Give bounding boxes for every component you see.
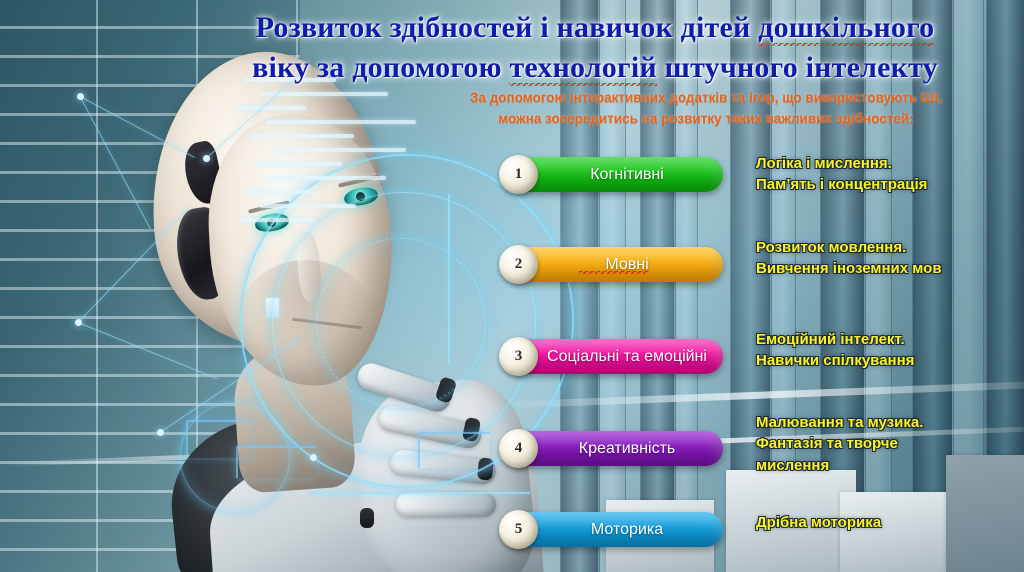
skill-number-badge: 3 [499,337,538,376]
skill-number-badge: 4 [499,429,538,468]
skill-pill-language[interactable]: 2 Мовні [505,247,723,282]
description-line: мислення [756,455,1024,476]
skill-pill-label: Моторика [565,521,663,539]
hud-network-edge [78,322,217,379]
description-line: Малювання та музика. [756,412,1024,433]
skill-pill-label: Мовні [579,256,648,274]
hud-circuit-trace [236,446,316,478]
hud-node [77,93,84,100]
description-line: Вивчення іноземних мов [756,258,1024,279]
skill-pill-creativity[interactable]: 4 Креативність [505,431,723,466]
skill-number-badge: 1 [499,155,538,194]
description-line: Розвиток мовлення. [756,237,1024,258]
skill-pill-social-emotional[interactable]: 3 Соціальні та емоційні [505,339,723,374]
skill-pill-cognitive[interactable]: 1 Когнітивні [505,157,723,192]
skill-pill-label: Когнітивні [564,166,664,184]
skill-number-badge: 2 [499,245,538,284]
hud-node [203,155,210,162]
hud-code-line [268,176,386,180]
hud-code-line [274,148,406,152]
hud-code-line [266,120,416,124]
page-title: Розвиток здібностей і навичок дітей дошк… [150,8,1024,87]
hud-code-line [250,134,354,138]
description-line: Логіка і мислення. [756,153,1024,174]
title-text-1a: Розвиток здібностей і навичок дітей [256,11,759,44]
hud-circuit-trace [418,432,490,468]
description-line: Фантазія та творче [756,433,1024,454]
title-line-2: віку за допомогою технологій штучного ін… [150,48,1024,88]
hud-code-line [246,190,310,194]
title-line-1: Розвиток здібностей і навичок дітей дошк… [150,8,1024,48]
skill-description-motor: Дрібна моторика [756,512,1024,533]
robot-finger [396,492,496,517]
skill-description-language: Розвиток мовлення. Вивчення іноземних мо… [756,237,1024,280]
title-text-2c: штучного інтелекту [657,51,938,84]
subtitle: За допомогою інтерактивних додатків та і… [398,88,1014,130]
description-line: Емоційний інтелект. [756,329,1024,350]
description-line: Дрібна моторика [756,512,1024,533]
skill-pill-label: Креативність [553,440,675,458]
skill-description-creativity: Малювання та музика. Фантазія та творче … [756,412,1024,476]
title-text-1b: дошкільного [758,11,934,46]
hud-code-line [240,218,314,222]
robot-knuckle [360,508,374,528]
hud-code-line [256,162,342,166]
title-text-2a: віку за допомогою [252,51,509,84]
subtitle-line-1: За допомогою інтерактивних додатків та і… [398,88,1014,109]
description-line: Навички спілкування [756,350,1024,371]
hud-code-line [236,106,306,110]
hud-ring-inner [316,238,486,408]
hud-scan-line [448,194,450,364]
title-text-2b: технологій [509,51,656,86]
hud-scan-line [310,492,530,494]
skill-number-badge: 5 [499,510,538,549]
hud-node [157,429,164,436]
hud-node [75,319,82,326]
hud-code-line [260,204,356,208]
skill-pill-motor[interactable]: 5 Моторика [505,512,723,547]
slide-canvas: Розвиток здібностей і навичок дітей дошк… [0,0,1024,572]
skill-description-social-emotional: Емоційний інтелект. Навички спілкування [756,329,1024,372]
skill-description-cognitive: Логіка і мислення. Пам’ять і концентраці… [756,153,1024,196]
skill-pill-label: Соціальні та емоційні [521,348,707,366]
description-line: Пам’ять і концентрація [756,174,1024,195]
subtitle-line-2: можна зосередитись на розвитку таких важ… [398,109,1014,130]
